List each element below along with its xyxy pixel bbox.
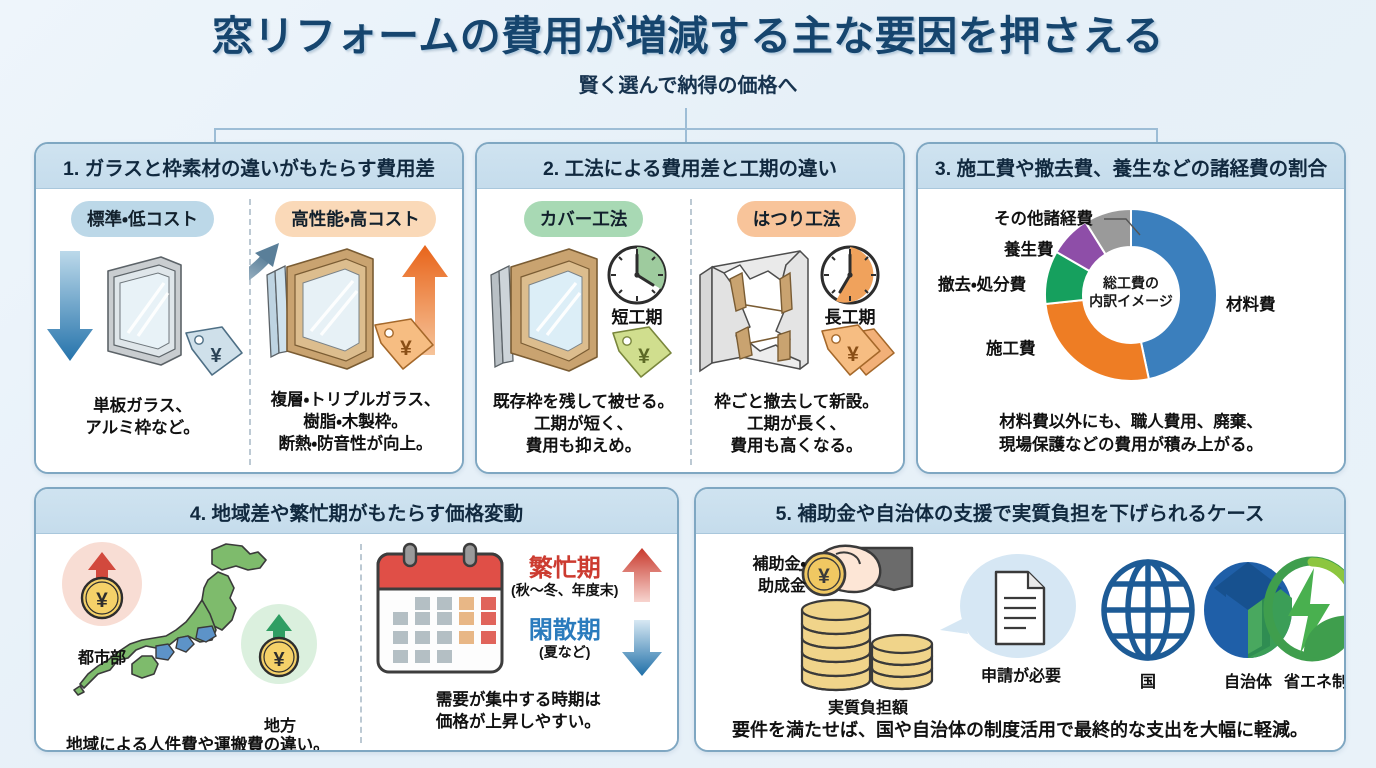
card-4-right-caption: 需要が集中する時期は 価格が上昇しやすい。	[360, 689, 677, 733]
donut-label-protection: 養生費	[1004, 236, 1054, 260]
clock-icon-long-term	[822, 247, 878, 303]
window-cover-method	[491, 249, 597, 371]
svg-text:¥: ¥	[818, 565, 830, 588]
donut-label-material: 材料費	[1226, 291, 1276, 315]
wall-demolition	[700, 251, 808, 371]
card-3-note: 材料費以外にも、職人費用、廃棄、 現場保護などの費用が積み上がる。	[918, 411, 1344, 457]
card-4-header: 4. 地域差や繁忙期がもたらす価格変動	[36, 489, 677, 534]
calendar-icon	[378, 544, 502, 672]
svg-text:¥: ¥	[273, 649, 285, 671]
coin-stack-tall	[802, 600, 870, 690]
card-1-body: 標準・低コスト	[36, 189, 462, 474]
svg-text:¥: ¥	[96, 589, 108, 612]
pill-demolition-method: はつり工法	[737, 201, 857, 237]
card-2-right-column: はつり工法	[690, 189, 903, 474]
card-3-header: 3. 施工費や撤去費、養生などの諸経費の割合	[918, 144, 1344, 189]
svg-text:¥: ¥	[847, 343, 859, 366]
card-5-header: 5. 補助金や自治体の支援で実質負担を下げられるケース	[696, 489, 1344, 534]
down-arrow-blue	[47, 251, 93, 361]
triple-pane-window-illustration: ¥	[249, 233, 462, 388]
card-5-body: ¥	[696, 534, 1344, 752]
card-cost-breakdown[interactable]: 3. 施工費や撤去費、養生などの諸経費の割合 総工費の 内訳イメージ その他諸経…	[916, 142, 1346, 474]
card-4-right-column: 繁忙期 (秋～冬、年度末) 閑散期 (夏など) 需要が集中する時期は 価格が上昇…	[360, 534, 677, 752]
card-glass-frame-material[interactable]: 1. ガラスと枠素材の違いがもたらす費用差 標準・低コスト	[34, 142, 464, 474]
card-3-body: 総工費の 内訳イメージ その他諸経費 養生費 撤去・処分費 施工費 材料費 材料…	[918, 189, 1344, 474]
page-title: 窓リフォームの費用が増減する主な要因を押さえる	[0, 14, 1376, 60]
card-2-left-clock-label: 短工期	[612, 307, 663, 327]
card-2-body: カバー工法	[477, 189, 903, 474]
card-1-header: 1. ガラスと枠素材の違いがもたらす費用差	[36, 144, 462, 189]
svg-text:¥: ¥	[210, 345, 222, 367]
badge-urban: ¥	[62, 542, 142, 626]
yen-tag-green: ¥	[613, 327, 671, 377]
card-subsidy-support[interactable]: 5. 補助金や自治体の支援で実質負担を下げられるケース ¥	[694, 487, 1346, 752]
page-subtitle: 賢く選んで納得の価格へ	[0, 69, 1376, 98]
card-1-right-column: 高性能・高コスト	[249, 189, 462, 474]
donut-label-labor: 施工費	[986, 335, 1036, 359]
pill-standard-low-cost: 標準・低コスト	[71, 201, 214, 237]
card-4-left-column: ¥ ¥	[36, 534, 360, 752]
card-1-left-column: 標準・低コスト	[36, 189, 249, 474]
globe-icon	[1104, 562, 1192, 658]
clock-icon-short-term	[609, 247, 665, 303]
label-slow-season: 閑散期	[510, 610, 620, 645]
badge-rural: ¥	[241, 604, 317, 684]
card-regional-seasonal[interactable]: 4. 地域差や繁忙期がもたらす価格変動 ¥	[34, 487, 679, 752]
card-construction-method[interactable]: 2. 工法による費用差と工期の違い カバー工法	[475, 142, 905, 474]
label-busy-season: 繁忙期	[510, 548, 620, 583]
hand-with-coin-icon: ¥	[803, 546, 912, 595]
donut-label-removal: 撤去・処分費	[938, 271, 1026, 295]
card-2-right-caption: 枠ごと撤去して新設。 工期が長く、 費用も高くなる。	[690, 391, 903, 457]
pill-high-performance-high-cost: 高性能・高コスト	[275, 201, 435, 237]
document-speech-bubble-icon	[940, 554, 1076, 658]
svg-text:¥: ¥	[638, 345, 650, 368]
card-1-right-caption: 複層・トリプルガラス、 樹脂・木製枠。 断熱・防音性が向上。	[249, 389, 462, 455]
yen-tag-orange-double: ¥	[822, 325, 894, 375]
connector-stem	[685, 108, 687, 128]
card-4-body: ¥ ¥	[36, 534, 677, 752]
donut-label-other: その他諸経費	[994, 205, 1093, 229]
card-2-left-caption: 既存枠を残して被せる。 工期が短く、 費用も抑えめ。	[477, 391, 690, 457]
japan-map-illustration: ¥ ¥	[36, 538, 360, 698]
label-application: 申請が必要	[948, 662, 1094, 686]
window-triple-pane	[267, 249, 373, 369]
single-pane-window-illustration: ¥	[36, 237, 249, 387]
card-2-right-clock-label: 長工期	[825, 308, 876, 327]
down-arrow-blue	[622, 620, 662, 676]
pill-cover-method: カバー工法	[524, 201, 644, 237]
svg-text:¥: ¥	[400, 337, 412, 360]
label-busy-season-sub: (秋～冬、年度末)	[494, 580, 636, 600]
subsidy-label: 補助金・ 助成金	[710, 554, 806, 597]
coin-stack-short	[872, 635, 932, 689]
arrows-season	[622, 548, 662, 676]
cover-method-illustration: 短工期 ¥	[477, 235, 690, 387]
label-urban: 都市部	[58, 644, 146, 668]
title-area: 窓リフォームの費用が増減する主な要因を押さえる 賢く選んで納得の価格へ	[0, 0, 1376, 98]
label-icon-country: 国	[1098, 668, 1198, 692]
yen-tag-blue: ¥	[186, 327, 242, 375]
card-1-left-caption: 単板ガラス、 アルミ枠など。	[36, 395, 249, 439]
label-net-burden: 実質負担額	[788, 694, 948, 718]
demolition-method-illustration: 長工期 ¥	[690, 235, 903, 387]
label-slow-season-sub: (夏など)	[510, 642, 620, 662]
donut-slice-1	[1045, 300, 1148, 381]
label-icon-energy: 省エネ制度	[1264, 668, 1346, 692]
card-2-header: 2. 工法による費用差と工期の違い	[477, 144, 903, 189]
card-4-left-caption: 地域による人件費や運搬費の違い。	[36, 710, 360, 752]
window-single-pane	[108, 257, 181, 365]
card-5-footer: 要件を満たせば、国や自治体の制度活用で最終的な支出を大幅に軽減。	[696, 716, 1344, 742]
card-2-left-column: カバー工法	[477, 189, 690, 474]
